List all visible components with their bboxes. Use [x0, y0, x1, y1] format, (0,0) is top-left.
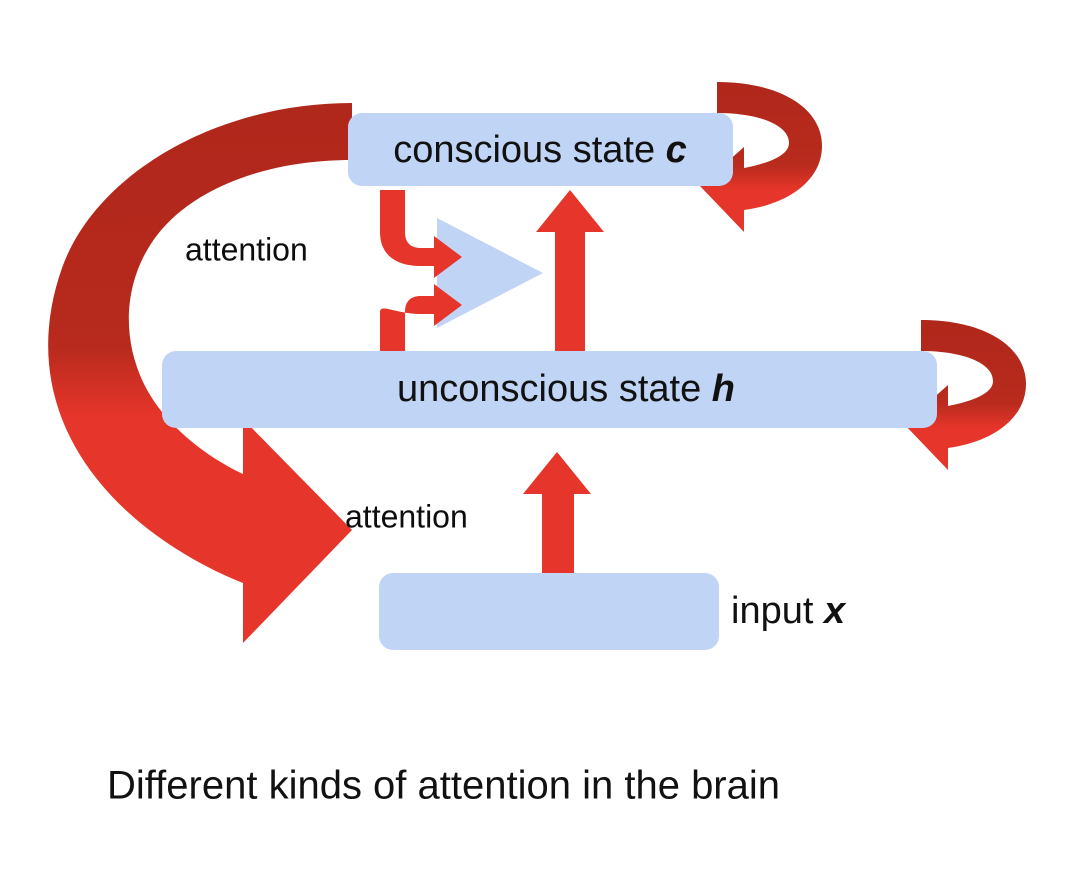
bottom-attention-label: attention [345, 498, 468, 534]
unconscious-state-label: unconscious state h [397, 368, 735, 410]
diagram-canvas: conscious state c unconscious state h in… [0, 0, 1080, 886]
input-label: input x [731, 590, 847, 632]
node-unconscious-state[interactable]: unconscious state h [162, 351, 937, 428]
figure-caption: Different kinds of attention in the brai… [107, 764, 780, 808]
node-conscious-state[interactable]: conscious state c [348, 113, 733, 186]
input-box[interactable] [379, 573, 719, 650]
top-attention-label: attention [185, 231, 308, 267]
attention-diagram: conscious state c unconscious state h in… [0, 0, 1080, 886]
conscious-state-label: conscious state c [393, 129, 687, 171]
